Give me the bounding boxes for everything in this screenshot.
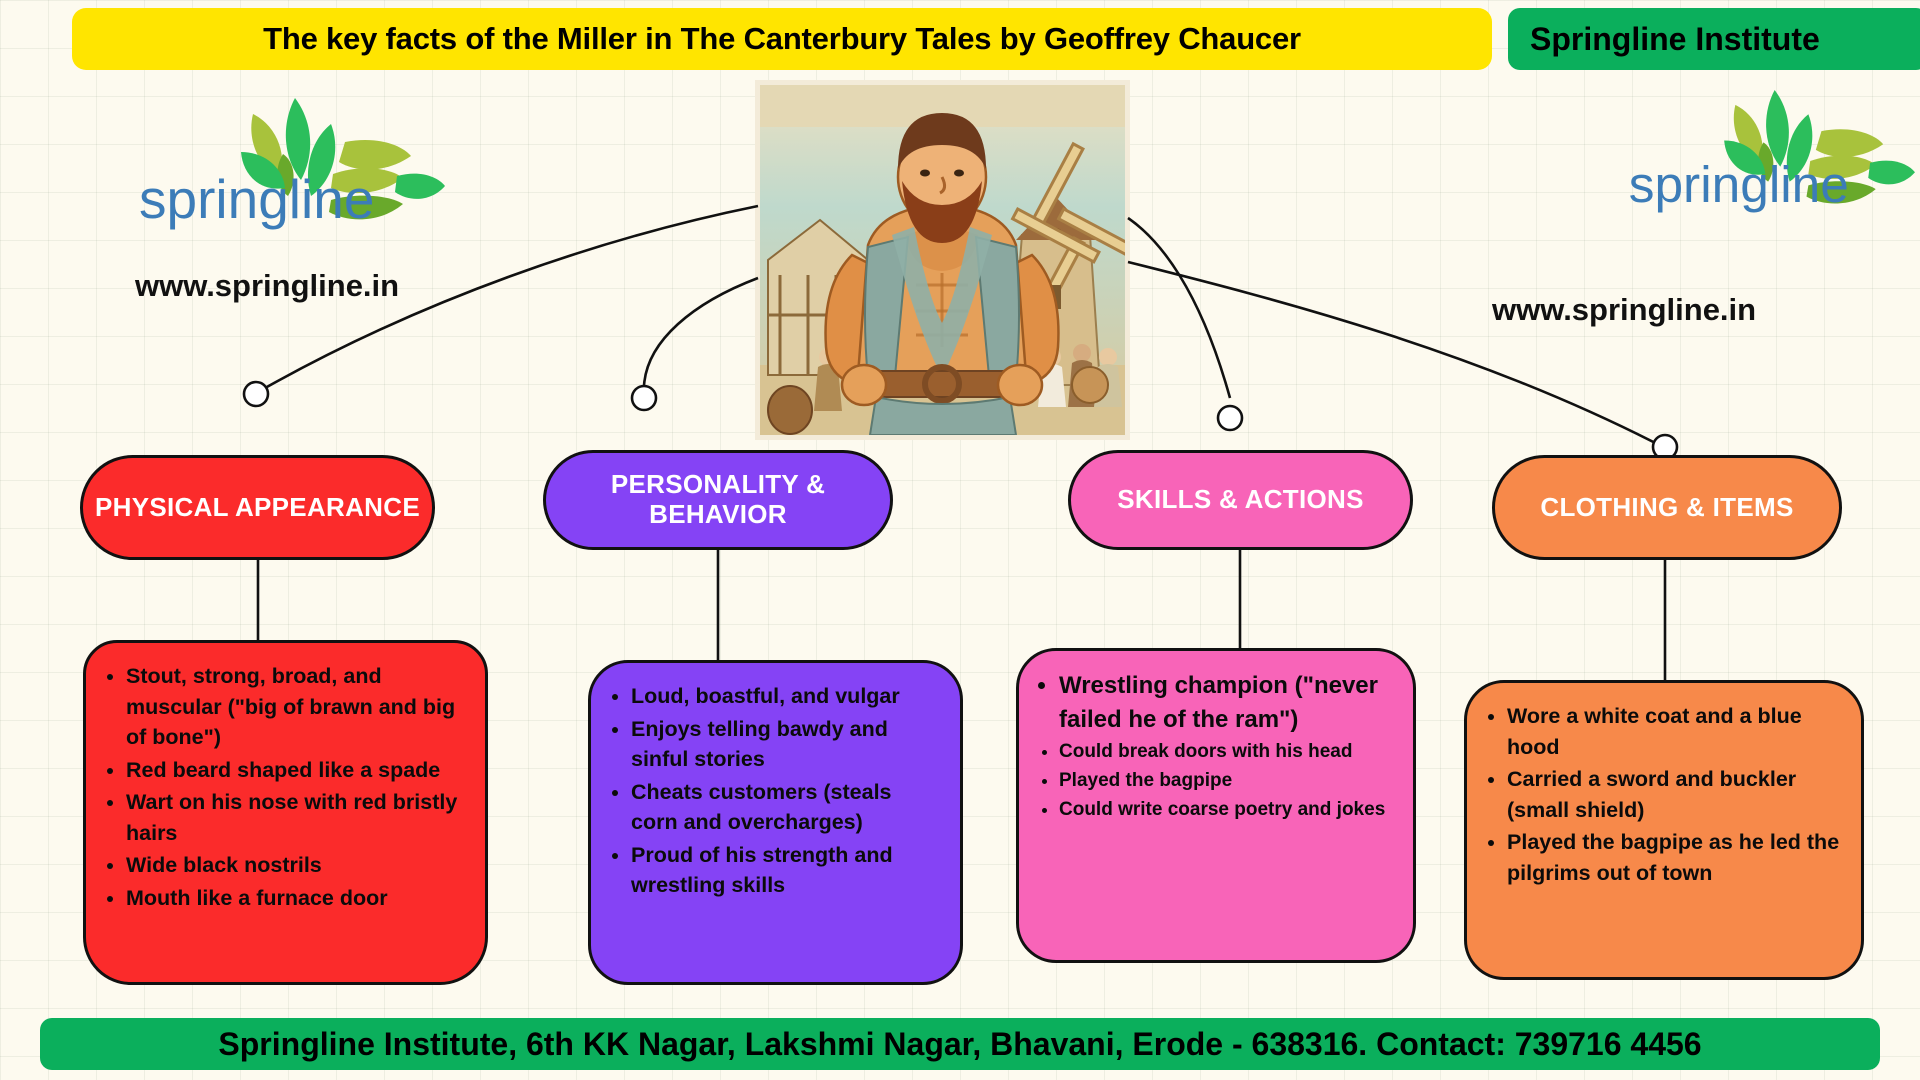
branch-body-physical-appearance: Stout, strong, broad, and muscular ("big…	[83, 640, 488, 985]
list-item: Wide black nostrils	[126, 850, 465, 881]
branch-header-personality-behavior[interactable]: PERSONALITY & BEHAVIOR	[543, 450, 893, 550]
connector-curve-3	[1128, 218, 1230, 398]
list-item: Stout, strong, broad, and muscular ("big…	[126, 661, 465, 753]
branch-title: PHYSICAL APPEARANCE	[95, 493, 420, 523]
brand-name: Springline Institute	[1530, 21, 1820, 58]
connector-node-3	[1218, 406, 1242, 430]
springline-logo-right: springline	[1625, 82, 1915, 227]
list-item: Played the bagpipe	[1059, 768, 1393, 795]
list-item: Enjoys telling bawdy and sinful stories	[631, 714, 940, 775]
page-title: The key facts of the Miller in The Cante…	[263, 21, 1301, 57]
list-item: Wrestling champion ("never failed he of …	[1059, 669, 1393, 737]
list-item: Wart on his nose with red bristly hairs	[126, 787, 465, 848]
connector-node-2	[632, 386, 656, 410]
branch-list: Stout, strong, broad, and muscular ("big…	[100, 661, 465, 913]
page-title-banner: The key facts of the Miller in The Cante…	[72, 8, 1492, 70]
branch-body-personality-behavior: Loud, boastful, and vulgar Enjoys tellin…	[588, 660, 963, 985]
connector-node-1	[244, 382, 268, 406]
footer-banner: Springline Institute, 6th KK Nagar, Laks…	[40, 1018, 1880, 1070]
connector-curve-4	[1128, 262, 1665, 448]
list-item: Wore a white coat and a blue hood	[1507, 701, 1841, 762]
list-item: Cheats customers (steals corn and overch…	[631, 777, 940, 838]
list-item: Played the bagpipe as he led the pilgrim…	[1507, 827, 1841, 888]
list-item: Red beard shaped like a spade	[126, 755, 465, 786]
branch-title: PERSONALITY & BEHAVIOR	[546, 470, 890, 530]
list-item: Mouth like a furnace door	[126, 883, 465, 914]
branch-header-skills-actions[interactable]: SKILLS & ACTIONS	[1068, 450, 1413, 550]
branch-title: CLOTHING & ITEMS	[1540, 493, 1793, 523]
footer-text: Springline Institute, 6th KK Nagar, Laks…	[218, 1026, 1701, 1063]
branch-header-clothing-items[interactable]: CLOTHING & ITEMS	[1492, 455, 1842, 560]
branch-body-skills-actions: Wrestling champion ("never failed he of …	[1016, 648, 1416, 963]
list-item: Could write coarse poetry and jokes	[1059, 797, 1393, 824]
branch-list: Wrestling champion ("never failed he of …	[1033, 669, 1393, 824]
website-url-right[interactable]: www.springline.in	[1492, 292, 1756, 328]
branch-list: Loud, boastful, and vulgar Enjoys tellin…	[605, 681, 940, 901]
springline-leaf-icon: springline	[135, 92, 445, 242]
springline-wordmark-right: springline	[1629, 155, 1849, 213]
branch-body-clothing-items: Wore a white coat and a blue hood Carrie…	[1464, 680, 1864, 980]
branch-list: Wore a white coat and a blue hood Carrie…	[1481, 701, 1841, 888]
brand-banner: Springline Institute	[1508, 8, 1920, 70]
branch-header-physical-appearance[interactable]: PHYSICAL APPEARANCE	[80, 455, 435, 560]
infographic-canvas: The key facts of the Miller in The Cante…	[0, 0, 1920, 1080]
miller-illustration	[755, 80, 1130, 440]
branch-title: SKILLS & ACTIONS	[1117, 485, 1364, 515]
list-item: Could break doors with his head	[1059, 739, 1393, 766]
list-item: Carried a sword and buckler (small shiel…	[1507, 764, 1841, 825]
website-url-left[interactable]: www.springline.in	[135, 268, 399, 304]
springline-leaf-icon: springline	[1625, 82, 1915, 227]
connector-curve-2	[644, 278, 758, 396]
springline-wordmark-left: springline	[139, 168, 374, 230]
springline-logo-left: springline	[135, 92, 445, 242]
list-item: Proud of his strength and wrestling skil…	[631, 840, 940, 901]
list-item: Loud, boastful, and vulgar	[631, 681, 940, 712]
